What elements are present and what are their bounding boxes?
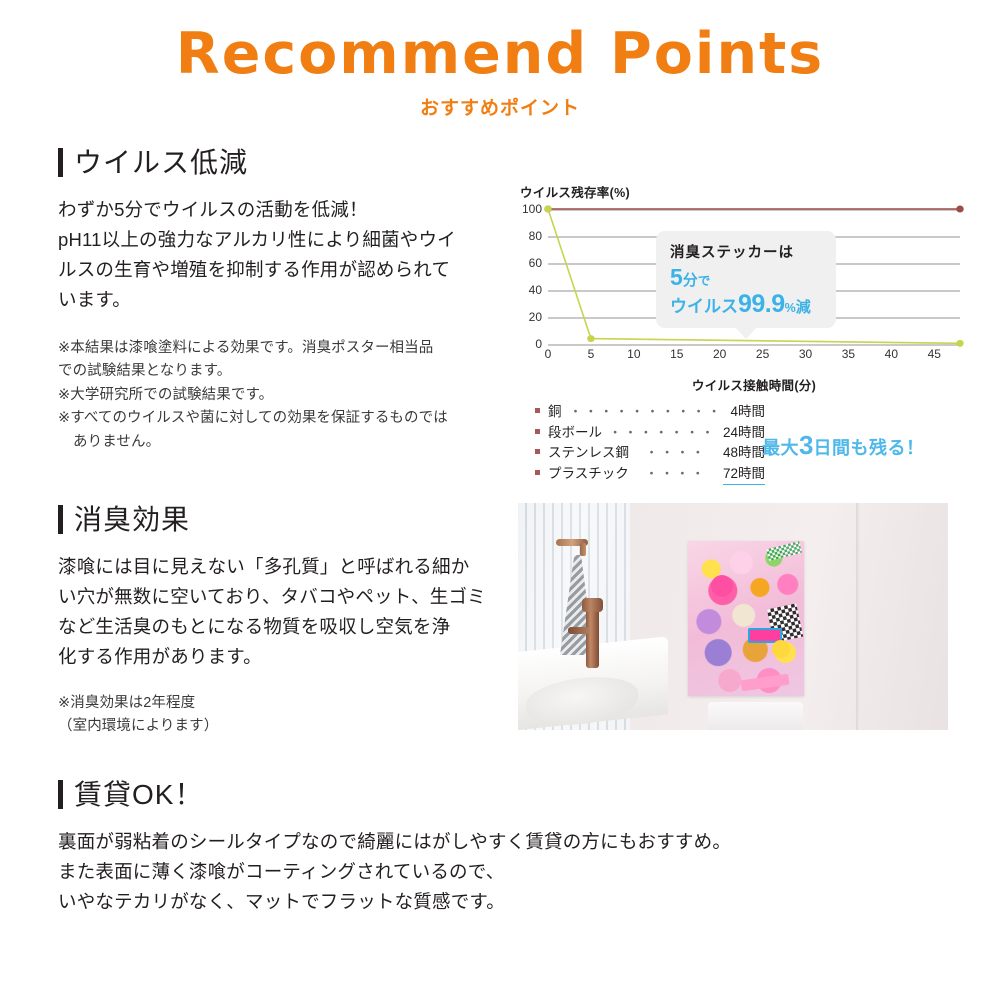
chart-x-axis-ticks: 051015202530354045 <box>548 347 960 367</box>
legend-material-label: 銅 <box>548 402 562 423</box>
note-line: ※消臭効果は2年程度 <box>58 692 513 715</box>
heading-bar-icon <box>58 780 63 809</box>
series-point <box>956 205 963 212</box>
x-axis-tick: 0 <box>545 347 552 361</box>
sticker-collage-poster <box>688 541 804 696</box>
section-heading-rental: 賃貸OK！ <box>58 780 848 809</box>
legend-material-label: プラスチック <box>548 464 629 485</box>
section-body-deodor: 漆喰には目に見えない「多孔質」と呼ばれる細か い穴が無数に空いており、タバコやペ… <box>58 552 513 672</box>
legend-leader-dots: ・・・・・・・ <box>607 423 718 443</box>
section-heading-deodor: 消臭効果 <box>58 505 513 534</box>
note-line: ※すべてのウイルスや菌に対しての効果を保証するものでは <box>58 407 513 430</box>
note-line: での試験結果となります。 <box>58 360 513 383</box>
body-line: また表面に薄く漆喰がコーティングされているので、 <box>58 857 848 887</box>
legend-duration-value: 72時間 <box>723 464 765 486</box>
body-line: ルスの生育や増殖を抑制する作用が認められて <box>58 255 513 285</box>
page-title: Recommend Points <box>0 26 1000 83</box>
y-axis-tick: 40 <box>529 283 542 297</box>
x-axis-tick: 35 <box>842 347 855 361</box>
legend-bullet-icon <box>535 429 540 434</box>
chart-y-axis-title: ウイルス残存率(%) <box>520 182 960 201</box>
legend-leader-dots: ・・・・・・・・・・ <box>567 402 726 422</box>
legend-material-label: ステンレス鋼 <box>548 443 629 464</box>
section-virus-reduction: ウイルス低減 わずか5分でウイルスの活動を低減！ pH11以上の強力なアルカリ性… <box>58 148 513 454</box>
legend-row: ステンレス鋼・・・・48時間 <box>535 443 765 464</box>
y-axis-tick: 20 <box>529 310 542 324</box>
section-heading-virus: ウイルス低減 <box>58 148 513 177</box>
chart-x-axis-title: ウイルス接触時間(分) <box>548 375 960 394</box>
section-notes-virus: ※本結果は漆喰塗料による効果です。消臭ポスター相当品 での試験結果となります。 … <box>58 337 513 454</box>
callout-line-2: 5分で <box>670 265 824 290</box>
y-axis-tick: 100 <box>522 202 542 216</box>
chart-annotation-callout: 消臭ステッカーは 5分で ウイルス99.9%減 <box>656 231 836 328</box>
section-deodorizing-effect: 消臭効果 漆喰には目に見えない「多孔質」と呼ばれる細か い穴が無数に空いており、… <box>58 505 513 739</box>
section-body-rental: 裏面が弱粘着のシールタイプなので綺麗にはがしやすく賃貸の方にもおすすめ。 また表… <box>58 827 848 917</box>
faucet-lever <box>568 627 590 634</box>
body-line: pH11以上の強力なアルカリ性により細菌やウイ <box>58 225 513 255</box>
series-point <box>587 335 594 342</box>
material-duration-legend: 銅・・・・・・・・・・4時間段ボール・・・・・・・24時間ステンレス鋼・・・・4… <box>535 402 765 485</box>
toilet-tank <box>708 702 803 730</box>
x-axis-tick: 5 <box>588 347 595 361</box>
heading-bar-icon <box>58 148 63 177</box>
callout-minutes-tail: で <box>698 274 711 288</box>
bathroom-poster-photo <box>518 503 948 730</box>
body-line: わずか5分でウイルスの活動を低減！ <box>58 195 513 225</box>
max-days-note: 最大3日間も残る！ <box>762 432 924 458</box>
grid-line <box>548 344 960 346</box>
page-header: Recommend Points おすすめポイント <box>0 0 1000 120</box>
callout-percent-number: 99.9 <box>738 290 785 318</box>
heading-bar-icon <box>58 505 63 534</box>
body-line: 化する作用があります。 <box>58 642 513 672</box>
faucet-spout <box>582 598 603 612</box>
x-axis-tick: 20 <box>713 347 726 361</box>
virus-survival-chart: ウイルス残存率(%) 020406080100 消臭ステッカーは 5分で ウイル… <box>520 182 960 394</box>
body-line: 漆喰には目に見えない「多孔質」と呼ばれる細か <box>58 552 513 582</box>
max-days-number: 3 <box>799 430 813 460</box>
section-title-virus: ウイルス低減 <box>74 149 248 177</box>
y-axis-tick: 80 <box>529 229 542 243</box>
note-line: ※本結果は漆喰塗料による効果です。消臭ポスター相当品 <box>58 337 513 360</box>
callout-minutes-number: 5 <box>670 264 683 290</box>
legend-leader-dots: ・・・・ <box>634 464 718 484</box>
legend-duration-value: 4時間 <box>730 402 765 423</box>
legend-bullet-icon <box>535 408 540 413</box>
legend-duration-value: 48時間 <box>723 443 765 464</box>
callout-virus-label: ウイルス <box>670 297 738 316</box>
x-axis-tick: 25 <box>756 347 769 361</box>
x-axis-tick: 30 <box>799 347 812 361</box>
section-title-rental: 賃貸OK！ <box>74 781 203 809</box>
poster-smiley-sticker <box>772 640 790 658</box>
towel-hook-stem <box>580 543 586 556</box>
page-subtitle: おすすめポイント <box>0 93 1000 120</box>
legend-row: 銅・・・・・・・・・・4時間 <box>535 402 765 423</box>
max-days-suffix: 日間も残る！ <box>813 438 924 458</box>
section-rental-ok: 賃貸OK！ 裏面が弱粘着のシールタイプなので綺麗にはがしやすく賃貸の方にもおすす… <box>58 780 848 917</box>
legend-bullet-icon <box>535 470 540 475</box>
legend-row: 段ボール・・・・・・・24時間 <box>535 423 765 444</box>
note-line: ※大学研究所での試験結果です。 <box>58 384 513 407</box>
x-axis-tick: 10 <box>627 347 640 361</box>
body-line: い穴が無数に空いており、タバコやペット、生ゴミ <box>58 582 513 612</box>
callout-line-1: 消臭ステッカーは <box>670 241 824 262</box>
x-axis-tick: 40 <box>885 347 898 361</box>
wall-corner <box>856 503 860 730</box>
body-line: います。 <box>58 285 513 315</box>
y-axis-tick: 0 <box>535 337 542 351</box>
x-axis-tick: 15 <box>670 347 683 361</box>
note-line: ありません。 <box>58 431 513 454</box>
legend-row: プラスチック・・・・72時間 <box>535 464 765 486</box>
callout-minutes-unit: 分 <box>683 272 698 289</box>
body-line: 裏面が弱粘着のシールタイプなので綺麗にはがしやすく賃貸の方にもおすすめ。 <box>58 827 848 857</box>
legend-leader-dots: ・・・・ <box>634 443 718 463</box>
callout-percent-sign: % <box>785 301 796 315</box>
legend-material-label: 段ボール <box>548 423 602 444</box>
callout-reduce-label: 減 <box>796 299 811 316</box>
section-notes-deodor: ※消臭効果は2年程度 （室内環境によります） <box>58 692 513 739</box>
body-line: いやなテカリがなく、マットでフラットな質感です。 <box>58 887 848 917</box>
y-axis-tick: 60 <box>529 256 542 270</box>
callout-line-3: ウイルス99.9%減 <box>670 292 824 317</box>
note-line: （室内環境によります） <box>58 715 513 738</box>
legend-duration-value: 24時間 <box>723 423 765 444</box>
series-point <box>544 205 551 212</box>
series-point <box>956 340 963 347</box>
x-axis-tick: 45 <box>928 347 941 361</box>
section-body-virus: わずか5分でウイルスの活動を低減！ pH11以上の強力なアルカリ性により細菌やウ… <box>58 195 513 315</box>
legend-bullet-icon <box>535 449 540 454</box>
body-line: など生活臭のもとになる物質を吸収し空気を浄 <box>58 612 513 642</box>
max-days-prefix: 最大 <box>762 438 799 458</box>
section-title-deodor: 消臭効果 <box>74 506 190 534</box>
chart-plot-area: 020406080100 消臭ステッカーは 5分で ウイルス99.9%減 <box>548 209 960 344</box>
